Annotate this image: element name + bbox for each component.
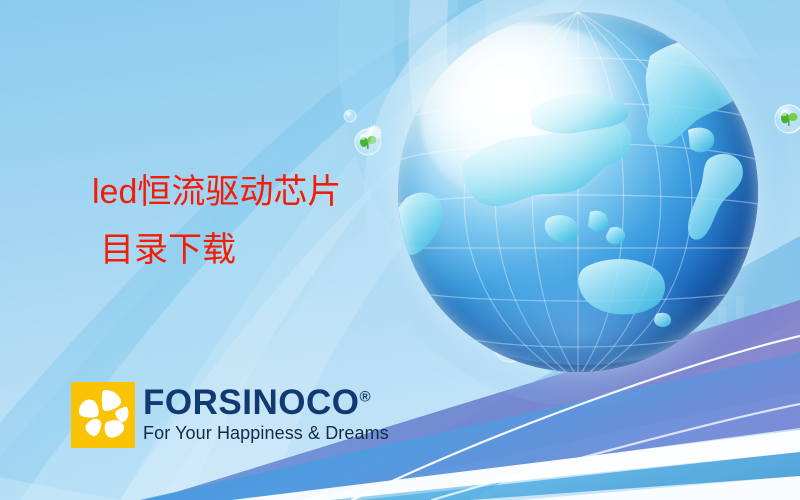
globe-sphere <box>398 12 758 372</box>
pinwheel-flower-icon <box>71 382 135 448</box>
globe-swirl-arc-inner <box>408 0 800 396</box>
globe-longitude-lines <box>464 12 692 372</box>
earth-globe-graphic <box>398 12 758 372</box>
logo-tagline: For Your Happiness & Dreams <box>143 423 389 444</box>
sparkle-flower-small <box>366 125 382 141</box>
swoosh-band-teal-lower <box>360 452 800 500</box>
globe-rim-light <box>398 12 758 372</box>
globe-latitude-lines <box>398 58 758 347</box>
forsinoco-logo: FORSINOCO® For Your Happiness & Dreams <box>71 382 389 448</box>
bubble-with-green-sprout-lower-center <box>494 328 528 362</box>
swoosh-band-teal <box>318 236 800 500</box>
city-skyline <box>560 286 800 442</box>
swoosh-band-white-lower <box>520 476 800 500</box>
swoosh-highlight-streaks <box>352 336 800 500</box>
globe-outer-glow <box>364 0 792 406</box>
bubble-with-green-sprout-right <box>775 105 800 133</box>
sparkle-flower-large <box>403 144 429 170</box>
globe-continents <box>398 17 749 327</box>
bubble-small-top <box>344 110 356 122</box>
logo-mark-square <box>71 382 135 448</box>
globe-specular-highlight <box>420 23 643 210</box>
globe-swirl-arc-outer <box>338 0 800 430</box>
headline-line-1: led恒流驱动芯片 <box>92 173 341 211</box>
promo-banner: led恒流驱动芯片 目录下载 FORSINOCO® For Your Happi… <box>0 0 800 500</box>
bubble-with-green-sprout-upper-left <box>355 129 381 155</box>
globe-swirl-arc-accent <box>457 0 800 356</box>
logo-company-name-text: FORSINOCO <box>143 383 359 422</box>
headline-line-2: 目录下载 <box>92 221 341 279</box>
logo-company-name: FORSINOCO® <box>143 384 389 422</box>
globe-detail-svg <box>398 12 758 372</box>
globe-bottom-reflection <box>448 257 714 365</box>
logo-wordmark: FORSINOCO® For Your Happiness & Dreams <box>143 384 389 444</box>
headline-text: led恒流驱动芯片 目录下载 <box>92 163 341 279</box>
registered-trademark-icon: ® <box>359 388 371 405</box>
